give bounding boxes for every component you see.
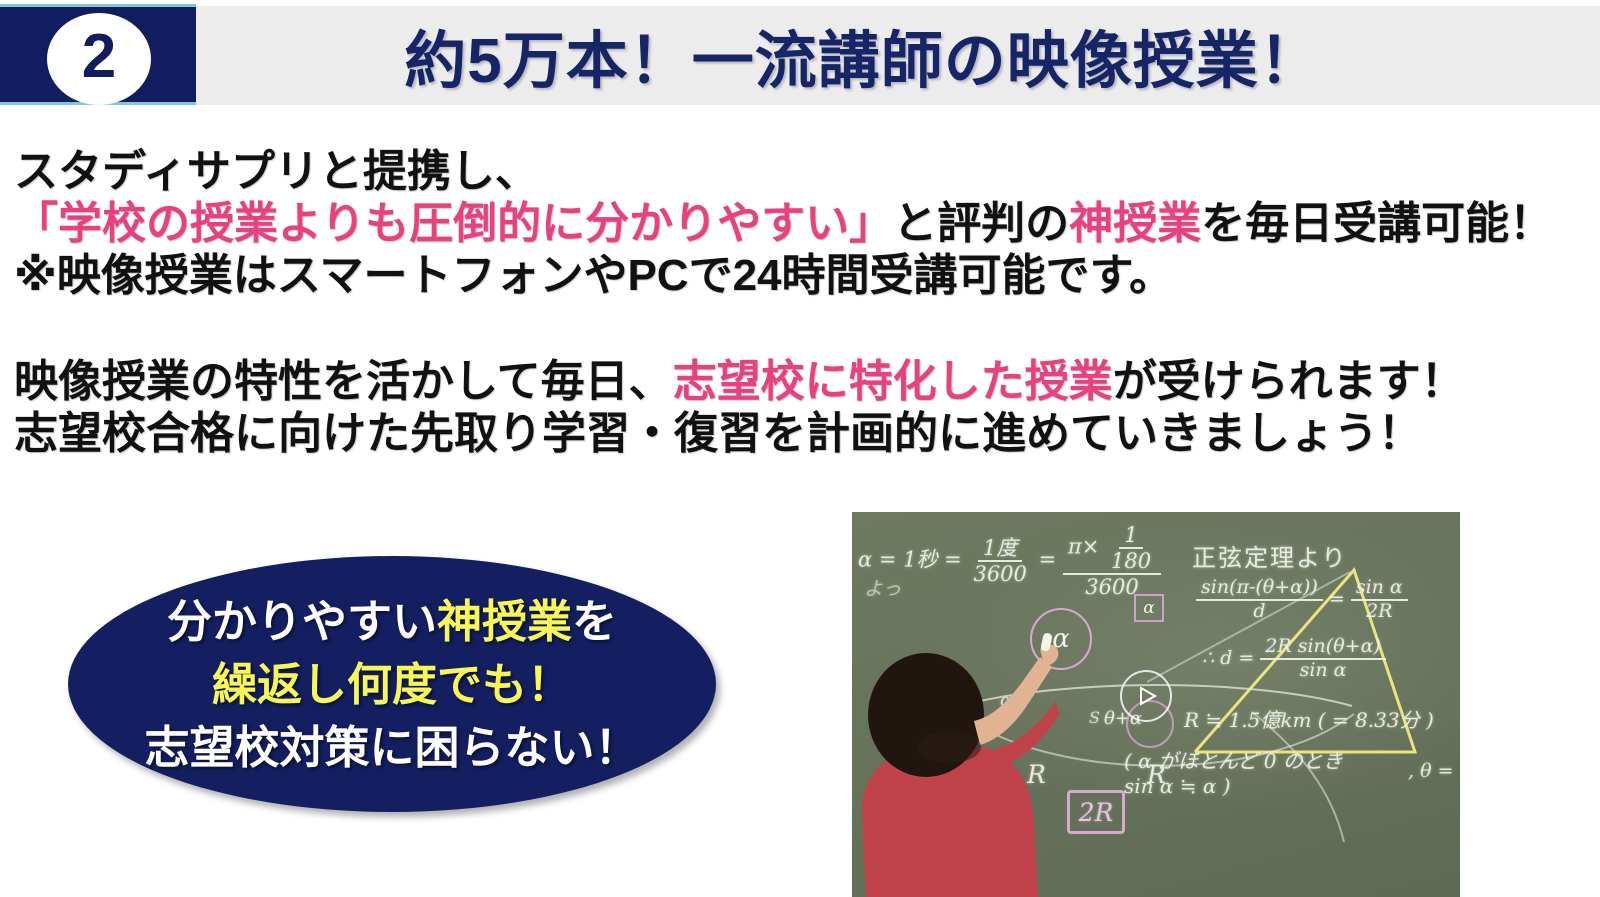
play-triangle-icon xyxy=(1139,686,1157,706)
chalk-d-den: sin α xyxy=(1295,660,1352,681)
teacher-figure xyxy=(852,597,1059,897)
oval-callout: 分かりやすい神授業を繰返し何度でも！志望校対策に困らない！ xyxy=(68,556,716,812)
chalk-frac-1-num: 1度 xyxy=(978,537,1022,562)
lesson-video-thumbnail[interactable]: α = 1秒 = 1度 3600 = π× 1 180 3600 よっ 正弦定理… xyxy=(852,512,1460,897)
header-number-label: 2 xyxy=(82,26,116,88)
copy.block1-segment: 神授業 xyxy=(1069,199,1201,248)
chalk-law-denominator: d xyxy=(1248,601,1270,622)
copy.block1-segment: 「学校の授業よりも圧倒的に分かりやすい」 xyxy=(14,199,893,248)
chalk-d-num: 2R sin(θ+α) xyxy=(1260,637,1386,660)
chalk-frac-1: 1度 3600 xyxy=(968,537,1031,585)
copy.block2-segment: が受けられます！ xyxy=(1113,357,1465,406)
chalk-d-result: ∴ d = 2R sin(θ+α) sin α xyxy=(1202,637,1386,681)
copy.block1-segment: を毎日受講可能！ xyxy=(1201,199,1553,248)
chalk-frac-2-inner: 1 180 xyxy=(1106,524,1156,572)
chalk-frac-2: π× 1 180 3600 xyxy=(1063,524,1161,598)
copy-block-primary: スタディサプリと提携し、「学校の授業よりも圧倒的に分かりやすい」と評判の神授業を… xyxy=(14,146,1574,302)
chalk-eq-lead: α = 1秒 = xyxy=(858,548,962,572)
chalk-theta-value: , θ = π 4 xyxy=(1408,750,1460,794)
copy.block1-segment: と評判の xyxy=(893,199,1069,248)
chalk-law-equals: = xyxy=(1329,588,1345,610)
copy.block2-segment: 志望校に特化した授業 xyxy=(673,357,1113,406)
oval_callout.lines-segment: 志望校対策に困らない！ xyxy=(144,722,639,773)
copy.block1-line: スタディサプリと提携し、 xyxy=(14,146,1574,198)
chalk-eq-mid: = xyxy=(1039,548,1057,572)
chalk-law-numerator: sin(π-(θ+α)) xyxy=(1196,578,1323,601)
chalk-radius-value: R ≒ 1.5億km ( = 8.33分 ) xyxy=(1184,704,1434,733)
oval_callout.lines-line: 分かりやすい神授業を xyxy=(167,590,617,653)
header-number-ellipse: 2 xyxy=(47,13,151,105)
chalk-law-equation: sin(π-(θ+α)) d = sin α 2R xyxy=(1196,578,1408,622)
oval_callout.lines-segment: 神授業 xyxy=(437,596,572,647)
chalk-law-lhs: sin(π-(θ+α)) d xyxy=(1196,578,1323,622)
chalk-frac-2-inner-den: 180 xyxy=(1106,549,1156,572)
oval_callout.lines-segment: 繰返し何度でも！ xyxy=(212,659,572,710)
play-icon[interactable] xyxy=(1120,670,1172,722)
copy.block1-segment: ※映像授業はスマートフォンやPCで24時間受講可能です。 xyxy=(14,251,1173,300)
chalk-label-s: S xyxy=(1089,708,1100,727)
chalk-frac-2-inner-num: 1 xyxy=(1119,524,1142,549)
chalk-label-diameter: 2R xyxy=(1067,790,1125,834)
copy.block2-line: 志望校合格に向けた先取り学習・復習を計画的に進めていきましょう！ xyxy=(14,408,1574,460)
copy.block2-segment: 志望校合格に向けた先取り学習・復習を計画的に進めていきましょう！ xyxy=(14,409,1422,458)
copy.block2-segment: 映像授業の特性を活かして毎日、 xyxy=(14,357,673,406)
copy.block1-segment: スタディサプリと提携し、 xyxy=(14,147,539,196)
chalk-frac-2-num: π× 1 180 xyxy=(1063,524,1161,575)
copy.block2-line: 映像授業の特性を活かして毎日、志望校に特化した授業が受けられます！ xyxy=(14,356,1574,408)
oval_callout.lines-segment: を xyxy=(572,596,617,647)
chalk-d-frac: 2R sin(θ+α) sin α xyxy=(1260,637,1386,681)
chalk-approx-line2: sin α ≒ α ) xyxy=(1124,774,1231,798)
chalk-d-lead: ∴ d = xyxy=(1202,647,1254,669)
copy.block1-line: ※映像授業はスマートフォンやPCで24時間受講可能です。 xyxy=(14,250,1574,302)
copy-block-secondary: 映像授業の特性を活かして毎日、志望校に特化した授業が受けられます！志望校合格に向… xyxy=(14,356,1574,460)
chalk-theta-lead: , θ = xyxy=(1408,760,1453,782)
oval_callout.lines-line: 繰返し何度でも！ xyxy=(212,653,572,716)
chalk-law-rhs-num: sin α xyxy=(1351,578,1408,601)
chalk-equation-top: α = 1秒 = 1度 3600 = π× 1 180 3600 xyxy=(858,524,1161,598)
chalk-frac-2-pi: π× xyxy=(1068,535,1099,559)
chalk-law-rhs-den: 2R xyxy=(1361,601,1397,622)
page-title: 約5万本！一流講師の映像授業！ xyxy=(196,4,1600,105)
copy.block1-line: 「学校の授業よりも圧倒的に分かりやすい」と評判の神授業を毎日受講可能！ xyxy=(14,198,1574,250)
chalk-label-alpha-boxed: α xyxy=(1134,594,1164,622)
header-number-badge: 2 xyxy=(0,4,196,105)
chalk-label-radius-right: R xyxy=(1147,760,1166,789)
oval_callout.lines-segment: 分かりやすい xyxy=(167,596,437,647)
chalk-law-rhs: sin α 2R xyxy=(1351,578,1408,622)
chalk-frac-1-den: 3600 xyxy=(968,562,1031,585)
oval_callout.lines-line: 志望校対策に困らない！ xyxy=(144,716,639,779)
chalk-law-title: 正弦定理より xyxy=(1192,538,1348,573)
